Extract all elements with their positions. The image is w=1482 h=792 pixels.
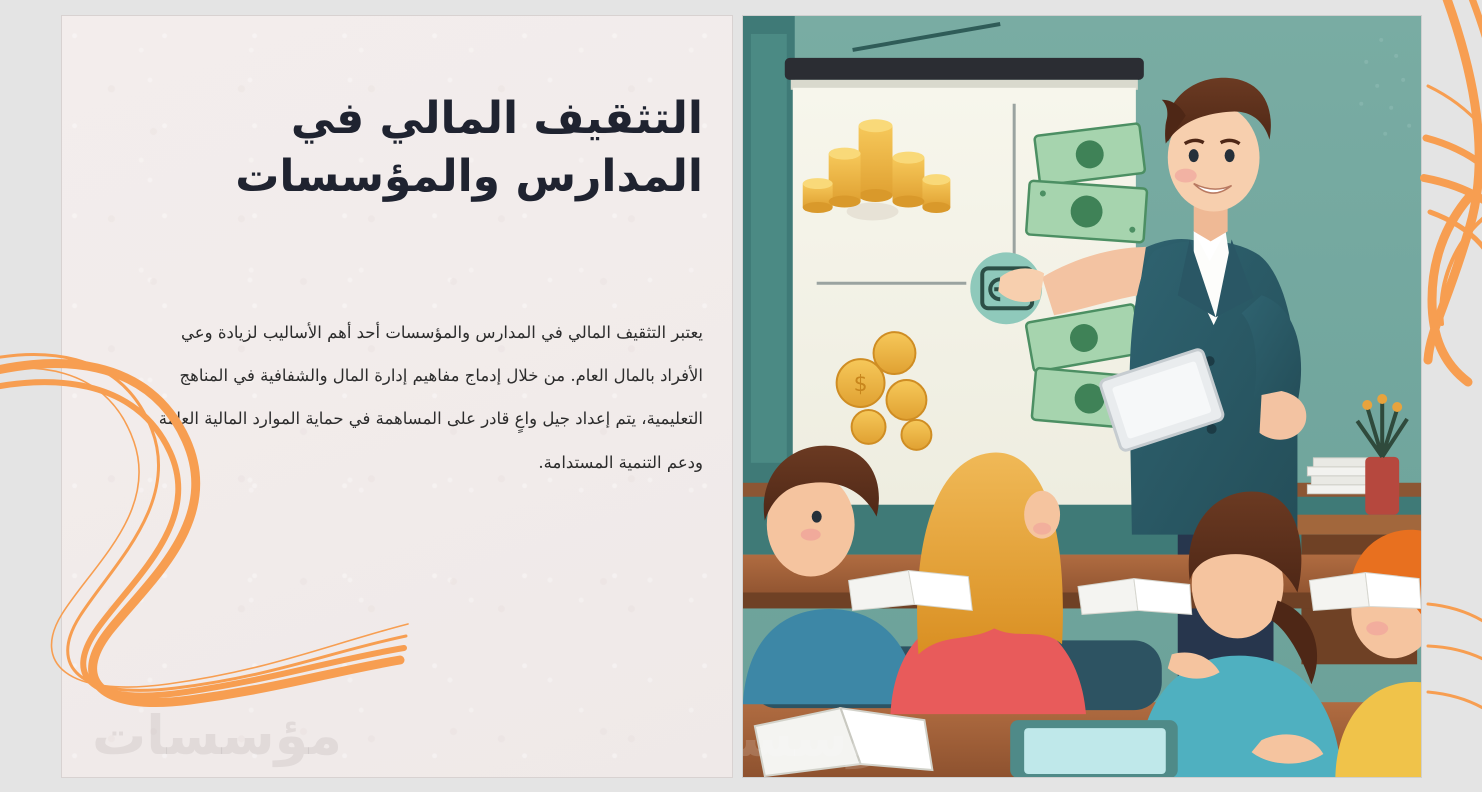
swirl-topright-5	[1424, 178, 1482, 270]
swirl-bottomright-2	[1428, 646, 1482, 702]
presentation-slide: التثقيف المالي في المدارس والمؤسسات يعتب…	[0, 0, 1482, 792]
swirl-topright-2	[1456, 0, 1482, 234]
page-title: التثقيف المالي في المدارس والمؤسسات	[153, 90, 703, 206]
classroom-illustration: $	[742, 15, 1422, 778]
swirl-bottomright-3	[1428, 692, 1482, 748]
slide-body-text: يعتبر التثقيف المالي في المدارس والمؤسسا…	[155, 311, 703, 484]
teacher-eye-left	[1189, 149, 1199, 162]
swirl-topright-1	[1428, 0, 1479, 360]
chalkboard	[751, 34, 787, 463]
content-panel: التثقيف المالي في المدارس والمؤسسات يعتب…	[61, 15, 733, 778]
watermark-text: مؤسسات	[61, 704, 382, 767]
swirl-topright-3	[1428, 86, 1482, 214]
tablet-on-desk	[1010, 720, 1178, 777]
projector-screen-bar	[785, 58, 1144, 80]
jacket-button-bottom	[1207, 424, 1217, 434]
swirl-topright-7	[1432, 196, 1470, 382]
swirl-topright-4	[1426, 138, 1482, 244]
teacher-eye-right	[1225, 149, 1235, 162]
classroom-illustration-svg: $	[743, 16, 1421, 777]
swirl-topright-6	[1430, 212, 1482, 290]
swirl-topright-8	[1441, 216, 1482, 324]
svg-text:$: $	[854, 372, 868, 397]
swirl-bottomright-1	[1428, 604, 1482, 660]
